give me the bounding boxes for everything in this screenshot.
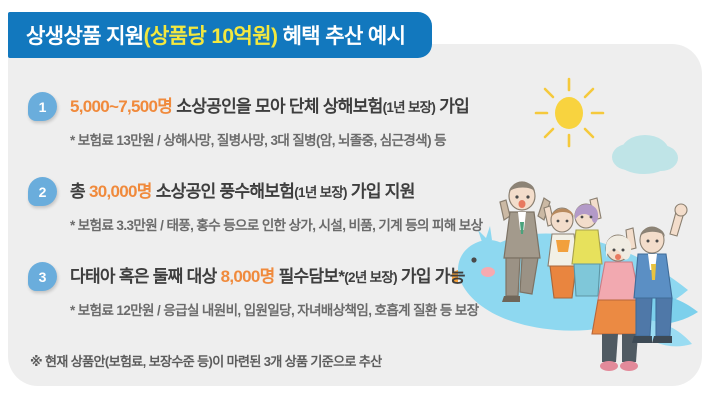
benefit-item-1: 1 5,000~7,500명 소상공인을 모아 단체 상해보험(1년 보장) 가…	[28, 92, 469, 149]
item-2-tail: 가입 지원	[347, 182, 415, 201]
footnote-text: ※ 현재 상품안(보험료, 보장수준 등)이 마련된 3개 상품 기준으로 추산	[30, 351, 382, 370]
item-1-highlight: 5,000~7,500명	[70, 97, 172, 116]
content-panel: 1 5,000~7,500명 소상공인을 모아 단체 상해보험(1년 보장) 가…	[8, 44, 702, 386]
item-1-rest: 소상공인을 모아 단체 상해보험	[172, 97, 382, 116]
item-number-badge-3: 3	[28, 262, 57, 291]
item-number-badge-1: 1	[28, 92, 57, 121]
infographic-screen: 1 5,000~7,500명 소상공인을 모아 단체 상해보험(1년 보장) 가…	[0, 0, 710, 400]
item-2-coverage-note: (1년 보장)	[294, 185, 347, 200]
page-title: 상생상품 지원(상품당 10억원) 혜택 추산 예시	[26, 20, 405, 50]
title-prefix: 상생상품 지원	[26, 25, 144, 48]
item-1-main-line: 5,000~7,500명 소상공인을 모아 단체 상해보험(1년 보장) 가입	[70, 92, 469, 122]
item-3-sub-line: * 보험료 12만원 / 응급실 내원비, 입원일당, 자녀배상책임, 호흡계 …	[70, 299, 479, 319]
item-2-rest: 소상공인 풍수해보험	[152, 182, 295, 201]
item-2-sub-line: * 보험료 3.3만원 / 태풍, 홍수 등으로 인한 상가, 시설, 비품, …	[70, 214, 482, 234]
item-1-sub-line: * 보험료 13만원 / 상해사망, 질병사망, 3대 질병(암, 뇌졸중, 심…	[70, 129, 469, 149]
item-1-coverage-note: (1년 보장)	[383, 100, 436, 115]
item-3-coverage-note: (2년 보장)	[344, 270, 397, 285]
item-2-highlight: 30,000명	[89, 182, 152, 201]
item-number-3: 3	[39, 270, 47, 284]
item-number-2: 2	[39, 185, 47, 199]
benefit-item-list: 1 5,000~7,500명 소상공인을 모아 단체 상해보험(1년 보장) 가…	[8, 44, 702, 386]
benefit-item-2: 2 총 30,000명 소상공인 풍수해보험(1년 보장) 가입 지원 * 보험…	[28, 177, 482, 234]
item-1-tail: 가입	[435, 97, 469, 116]
header-title-bar: 상생상품 지원(상품당 10억원) 혜택 추산 예시	[8, 12, 432, 58]
item-number-badge-2: 2	[28, 177, 57, 206]
item-3-highlight: 8,000명	[221, 267, 275, 286]
item-number-1: 1	[39, 100, 47, 114]
item-3-rest: 필수담보*	[275, 267, 345, 286]
title-suffix: 혜택 추산 예시	[277, 25, 405, 48]
title-highlight: (상품당 10억원)	[144, 25, 278, 48]
benefit-item-3: 3 다태아 혹은 둘째 대상 8,000명 필수담보*(2년 보장) 가입 가능…	[28, 262, 479, 319]
item-3-lead: 다태아 혹은 둘째 대상	[70, 267, 221, 286]
item-2-main-line: 총 30,000명 소상공인 풍수해보험(1년 보장) 가입 지원	[70, 177, 482, 207]
item-3-main-line: 다태아 혹은 둘째 대상 8,000명 필수담보*(2년 보장) 가입 가능	[70, 262, 479, 292]
item-2-lead: 총	[70, 182, 89, 201]
item-3-tail: 가입 가능	[397, 267, 465, 286]
